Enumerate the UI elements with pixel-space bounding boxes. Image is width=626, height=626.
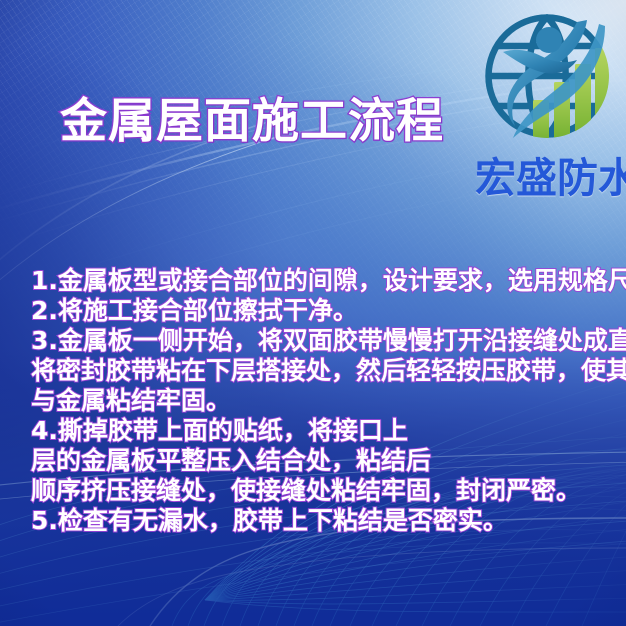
- step-line: 1.金属板型或接合部位的间隙，设计要求，选用规格尺寸。: [31, 266, 622, 296]
- step-line: 将密封胶带粘在下层搭接处，然后轻轻按压胶带，使其: [31, 356, 622, 386]
- step-line: 3.金属板一侧开始，将双面胶带慢慢打开沿接缝处成直线: [31, 326, 622, 356]
- logo-globe-figure-chart-icon: [473, 4, 621, 152]
- poster-canvas: 金属屋面施工流程 1.金属板型或接合部位的间隙，设计要求，选用规格尺寸。 2.将…: [0, 0, 626, 626]
- poster-title: 金属屋面施工流程: [60, 96, 444, 148]
- step-line: 2.将施工接合部位擦拭干净。: [31, 296, 622, 326]
- step-line: 层的金属板平整压入结合处，粘结后: [31, 446, 622, 476]
- step-line: 5.检查有无漏水，胶带上下粘结是否密实。: [31, 506, 622, 536]
- step-line: 顺序挤压接缝处，使接缝处粘结牢固，封闭严密。: [31, 476, 622, 506]
- step-line: 与金属粘结牢固。: [31, 386, 622, 416]
- brand-logo: 宏盛防水: [473, 4, 626, 209]
- brand-name: 宏盛防水: [475, 154, 626, 202]
- steps-list: 1.金属板型或接合部位的间隙，设计要求，选用规格尺寸。 2.将施工接合部位擦拭干…: [31, 266, 622, 536]
- step-line: 4.撕掉胶带上面的贴纸，将接口上: [31, 416, 622, 446]
